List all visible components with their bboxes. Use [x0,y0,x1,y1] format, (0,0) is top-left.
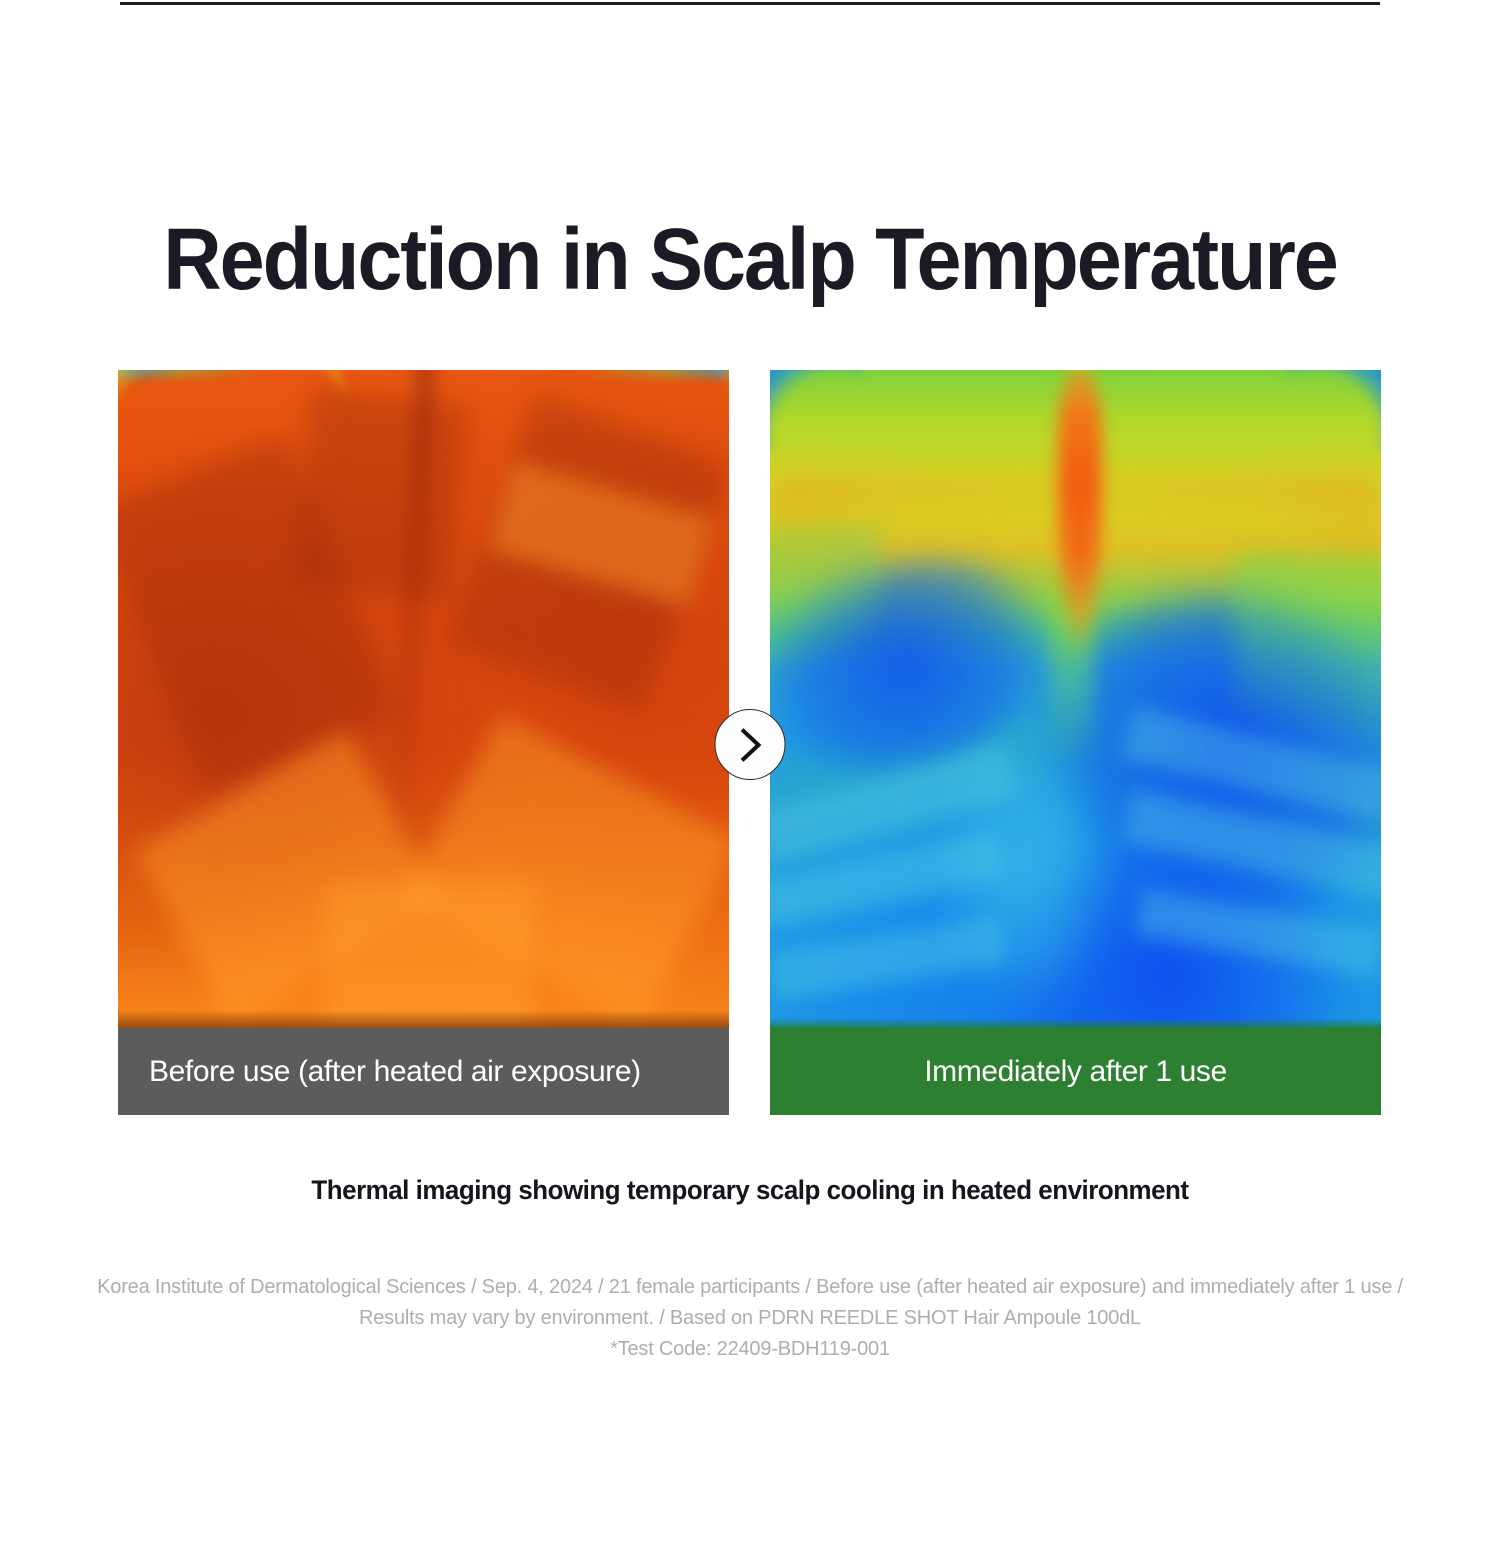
before-caption-bar: Before use (after heated air exposure) [118,1028,729,1115]
page-title: Reduction in Scalp Temperature [53,216,1448,303]
top-divider [120,2,1380,5]
before-caption-label: Before use (after heated air exposure) [149,1055,641,1089]
footnote-line-1: Korea Institute of Dermatological Scienc… [0,1272,1500,1303]
footnote-line-3: *Test Code: 22409-BDH119-001 [0,1334,1500,1365]
thermal-bottom-shadow [118,1010,729,1028]
after-panel: Immediately after 1 use [770,370,1381,1115]
after-caption-bar: Immediately after 1 use [770,1028,1381,1115]
after-thermal-image [770,370,1381,1028]
before-thermal-image [118,370,729,1028]
thermal-streak [326,883,534,1028]
chevron-right-icon [735,728,765,762]
before-panel: Before use (after heated air exposure) [118,370,729,1115]
comparison-next-button[interactable] [715,709,786,780]
before-after-comparison: Before use (after heated air exposure) [118,370,1382,1115]
footnote: Korea Institute of Dermatological Scienc… [0,1272,1500,1365]
thermal-rim-top-right [1289,370,1381,450]
sub-caption: Thermal imaging showing temporary scalp … [30,1175,1470,1206]
thermal-rim-top-left [770,370,862,450]
thermal-bottom-edge [770,1018,1381,1028]
after-caption-label: Immediately after 1 use [924,1055,1227,1089]
thermal-green-rim-left [770,528,880,673]
footnote-line-2: Results may vary by environment. / Based… [0,1303,1500,1334]
